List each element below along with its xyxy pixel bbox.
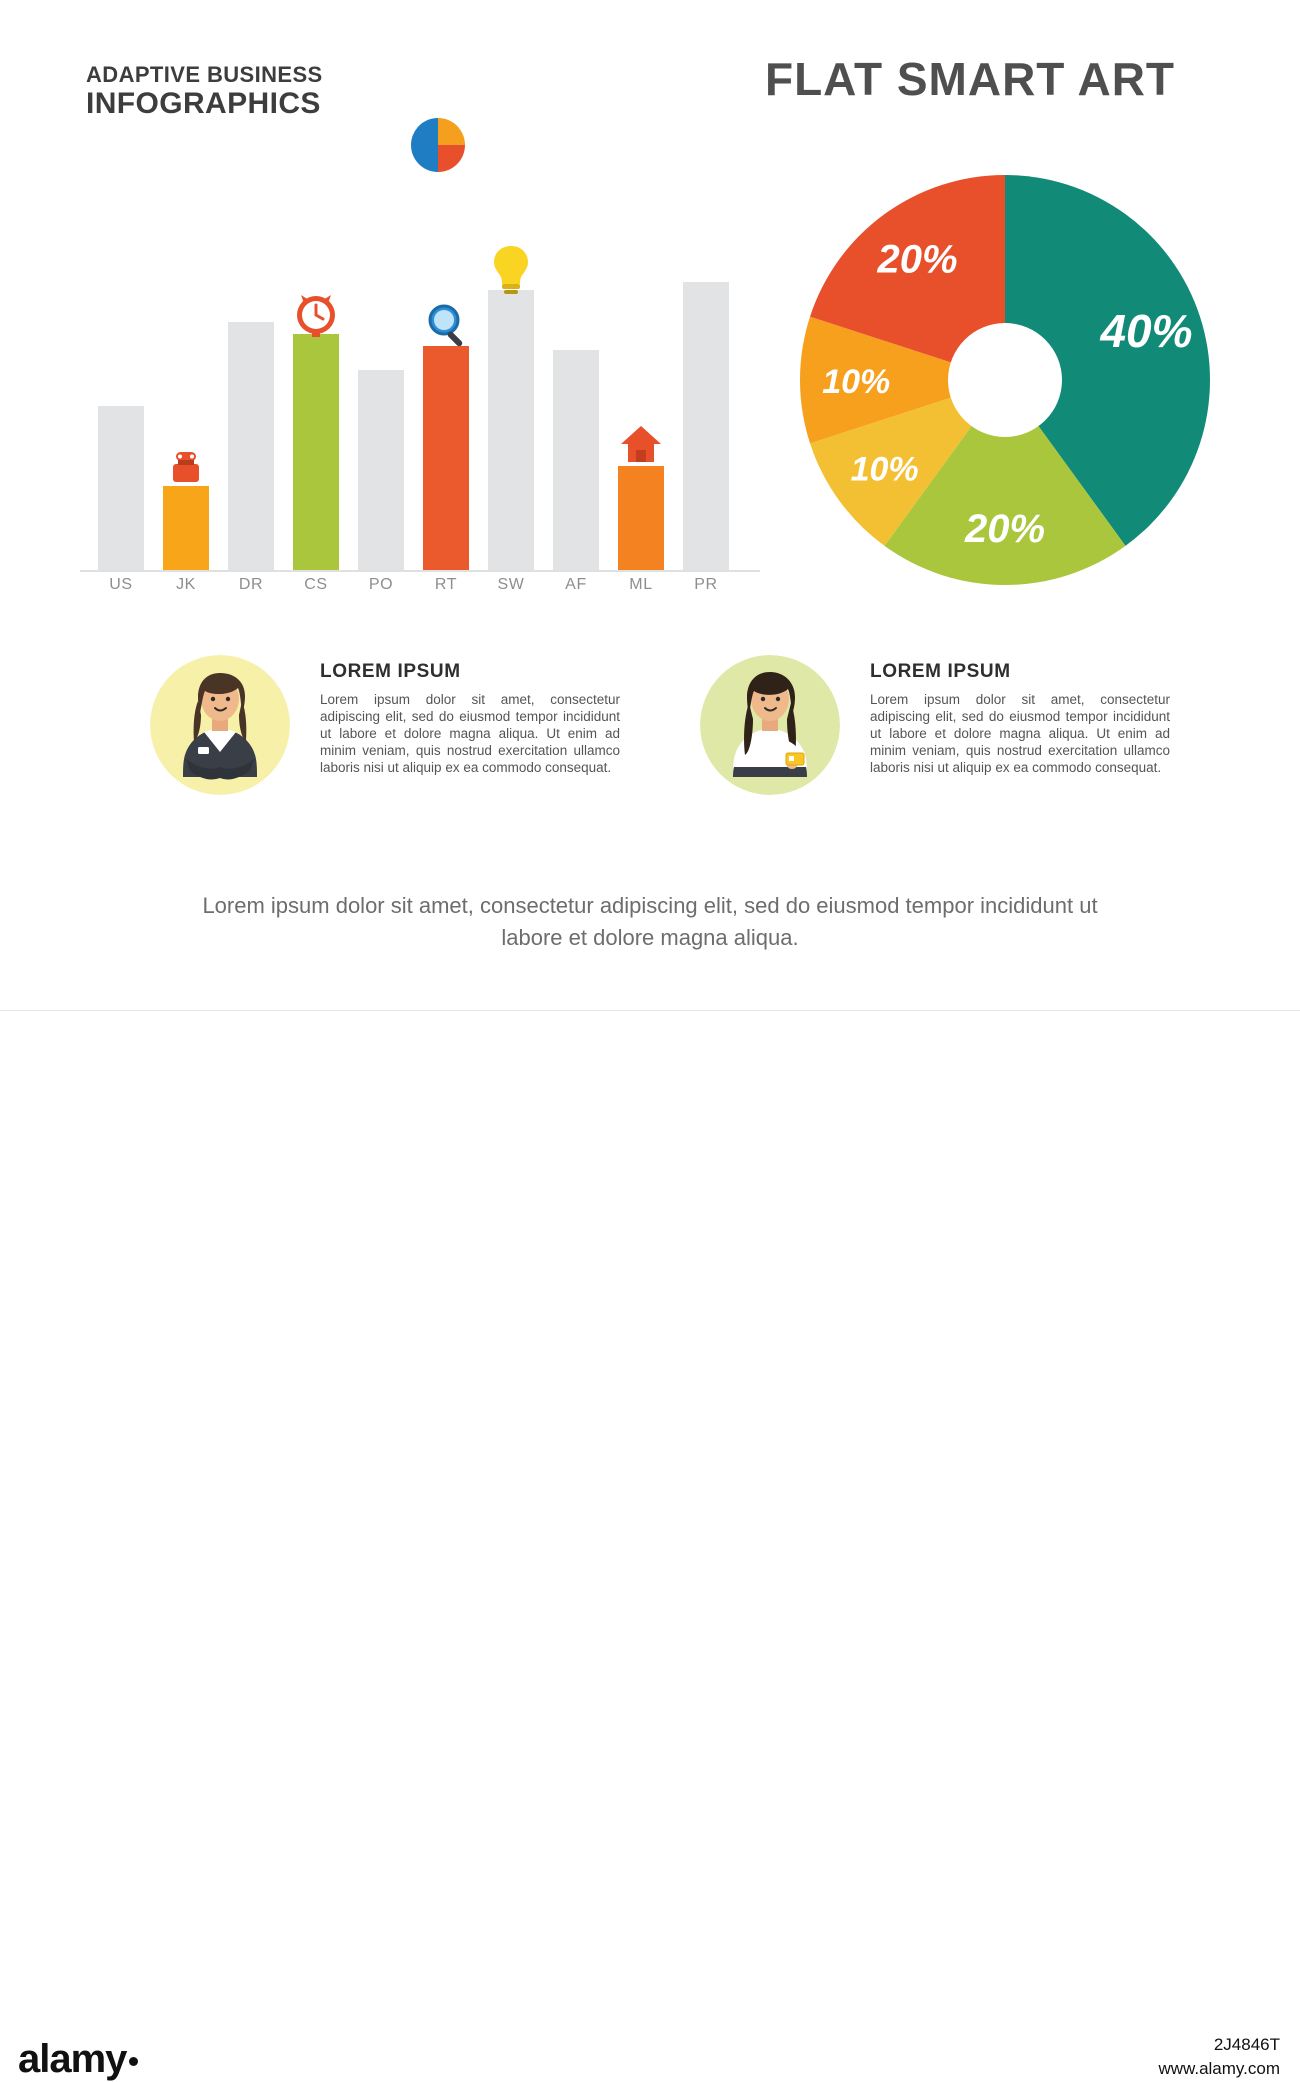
page-title: FLAT SMART ART [700, 52, 1240, 106]
alamy-logo: alamy [18, 2037, 138, 2082]
pie-slice-label-1: 20% [964, 507, 1045, 551]
bar-dr [228, 322, 274, 570]
bar-af [553, 350, 599, 570]
person-block-2: LOREM IPSUM Lorem ipsum dolor sit amet, … [700, 655, 1170, 845]
donut-hole [948, 323, 1062, 437]
pie-slice-label-3: 10% [822, 363, 890, 401]
brand-logo: ADAPTIVE BUSINESS INFOGRAPHICS [86, 62, 416, 130]
businesswoman-arms-crossed-avatar [150, 655, 290, 795]
pie-slice-label-2: 10% [851, 450, 919, 488]
lightbulb-icon [481, 238, 541, 298]
person-block-1: LOREM IPSUM Lorem ipsum dolor sit amet, … [150, 655, 620, 845]
home-icon [611, 414, 671, 474]
tick-label-po: PO [358, 576, 404, 594]
pie-slice-label-0: 40% [1099, 305, 1192, 357]
slide-canvas: ADAPTIVE BUSINESS INFOGRAPHICS FLAT SMAR… [0, 0, 1300, 1010]
person-2-body: Lorem ipsum dolor sit amet, consectetur … [870, 691, 1170, 776]
image-id: 2J4846T [1158, 2033, 1280, 2057]
donut-chart: 40%20%10%10%20% [790, 165, 1220, 595]
tick-label-ml: ML [618, 576, 664, 594]
slide-footer-text: Lorem ipsum dolor sit amet, consectetur … [180, 890, 1120, 954]
bar-rt [423, 346, 469, 570]
logo-line-2: INFOGRAPHICS [86, 88, 416, 120]
tick-label-dr: DR [228, 576, 274, 594]
tick-label-us: US [98, 576, 144, 594]
pie-slice-label-4: 20% [877, 238, 958, 282]
watermark-meta: 2J4846T www.alamy.com [1158, 2033, 1280, 2081]
pie-chart-logo-icon [411, 118, 465, 172]
person-2-heading: LOREM IPSUM [870, 661, 1170, 683]
tick-label-jk: JK [163, 576, 209, 594]
bar-po [358, 370, 404, 570]
person-2-text: LOREM IPSUM Lorem ipsum dolor sit amet, … [870, 661, 1170, 776]
x-axis-line [80, 570, 760, 572]
x-axis-tick-labels: USJKDRCSPORTSWAFMLPR [80, 576, 760, 606]
donut-chart-svg: 40%20%10%10%20% [790, 165, 1220, 595]
alamy-logo-dot [129, 2057, 138, 2066]
alamy-logo-text: alamy [18, 2037, 126, 2081]
person-1-text: LOREM IPSUM Lorem ipsum dolor sit amet, … [320, 661, 620, 776]
bar-plot-area [80, 170, 760, 570]
tick-label-sw: SW [488, 576, 534, 594]
person-1-body: Lorem ipsum dolor sit amet, consectetur … [320, 691, 620, 776]
bar-cs [293, 334, 339, 570]
alarm-clock-icon [286, 282, 346, 342]
telephone-icon [156, 434, 216, 494]
tick-label-af: AF [553, 576, 599, 594]
alamy-url: www.alamy.com [1158, 2057, 1280, 2081]
logo-line-1: ADAPTIVE BUSINESS [86, 62, 416, 88]
bar-chart: USJKDRCSPORTSWAFMLPR [80, 170, 760, 610]
magnifier-icon [416, 294, 476, 354]
bar-us [98, 406, 144, 570]
tick-label-pr: PR [683, 576, 729, 594]
bar-sw [488, 290, 534, 570]
tick-label-rt: RT [423, 576, 469, 594]
tick-label-cs: CS [293, 576, 339, 594]
person-1-heading: LOREM IPSUM [320, 661, 620, 683]
bar-ml [618, 466, 664, 570]
businesswoman-badge-avatar [700, 655, 840, 795]
watermark-bar: alamy 2J4846T www.alamy.com [0, 1010, 1300, 1106]
bar-jk [163, 486, 209, 570]
bar-pr [683, 282, 729, 570]
